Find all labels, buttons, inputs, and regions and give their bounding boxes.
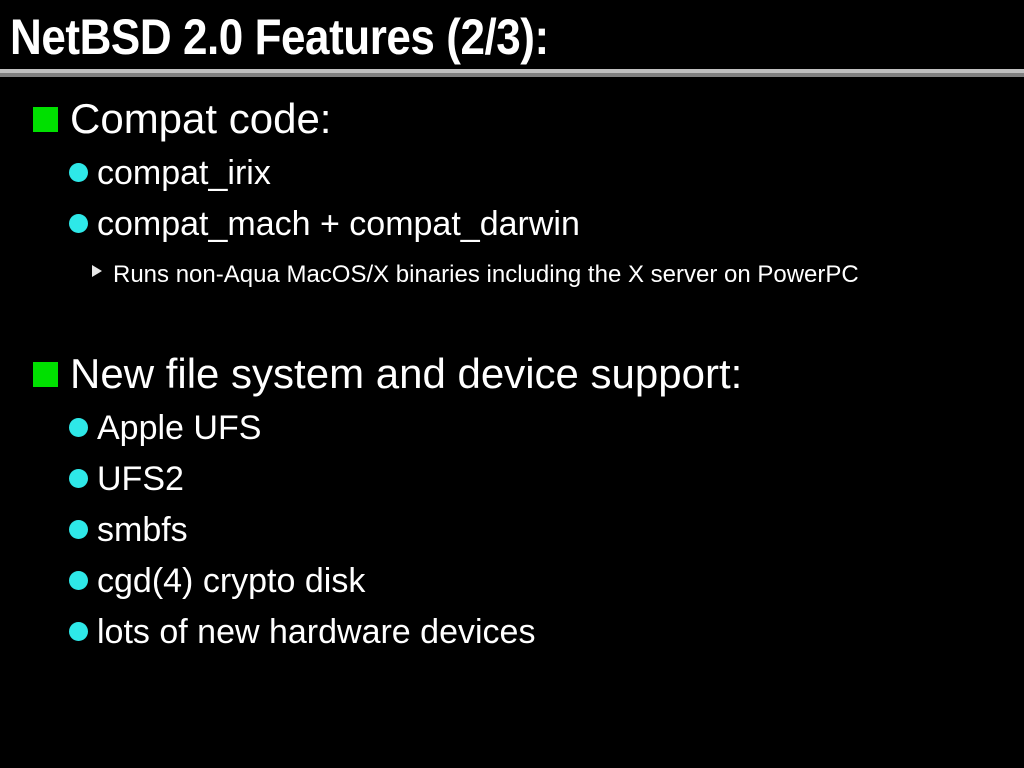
title-divider-rule [0,69,1024,77]
list-item-label: Apple UFS [97,403,1024,454]
section-heading-label: Compat code: [70,90,1024,148]
list-item-compat-irix: compat_irix [0,148,1024,199]
list-item-smbfs: smbfs [0,505,1024,556]
list-item-cgd-crypto-disk: cgd(4) crypto disk [0,556,1024,607]
list-item-label: compat_mach + compat_darwin [97,199,1024,250]
cyan-circle-bullet-icon [69,163,88,182]
green-square-bullet-icon [33,362,58,387]
list-item-ufs2: UFS2 [0,454,1024,505]
cyan-circle-bullet-icon [69,520,88,539]
section-heading-label: New file system and device support: [70,345,1024,403]
divider-dark-band [0,73,1024,77]
cyan-circle-bullet-icon [69,214,88,233]
list-item-label: smbfs [97,505,1024,556]
section-spacer [0,299,1024,345]
cyan-circle-bullet-icon [69,469,88,488]
list-item-label: cgd(4) crypto disk [97,556,1024,607]
list-item-compat-mach-darwin: compat_mach + compat_darwin [0,199,1024,250]
list-item-label: compat_irix [97,148,1024,199]
list-item-new-hardware-devices: lots of new hardware devices [0,607,1024,658]
sub-list-item-macosx-binaries: Runs non-Aqua MacOS/X binaries including… [0,250,1024,299]
presentation-slide: NetBSD 2.0 Features (2/3): Compat code: … [0,0,1024,768]
list-item-label: UFS2 [97,454,1024,505]
section-heading-new-fs-device-support: New file system and device support: [0,345,1024,403]
cyan-circle-bullet-icon [69,622,88,641]
cyan-circle-bullet-icon [69,571,88,590]
sub-list-item-label: Runs non-Aqua MacOS/X binaries including… [113,250,903,299]
section-heading-compat-code: Compat code: [0,90,1024,148]
slide-body: Compat code: compat_irix compat_mach + c… [0,90,1024,768]
list-item-label: lots of new hardware devices [97,607,1024,658]
list-item-apple-ufs: Apple UFS [0,403,1024,454]
cyan-circle-bullet-icon [69,418,88,437]
page-title: NetBSD 2.0 Features (2/3): [10,8,890,66]
white-triangle-bullet-icon [92,265,102,277]
green-square-bullet-icon [33,107,58,132]
